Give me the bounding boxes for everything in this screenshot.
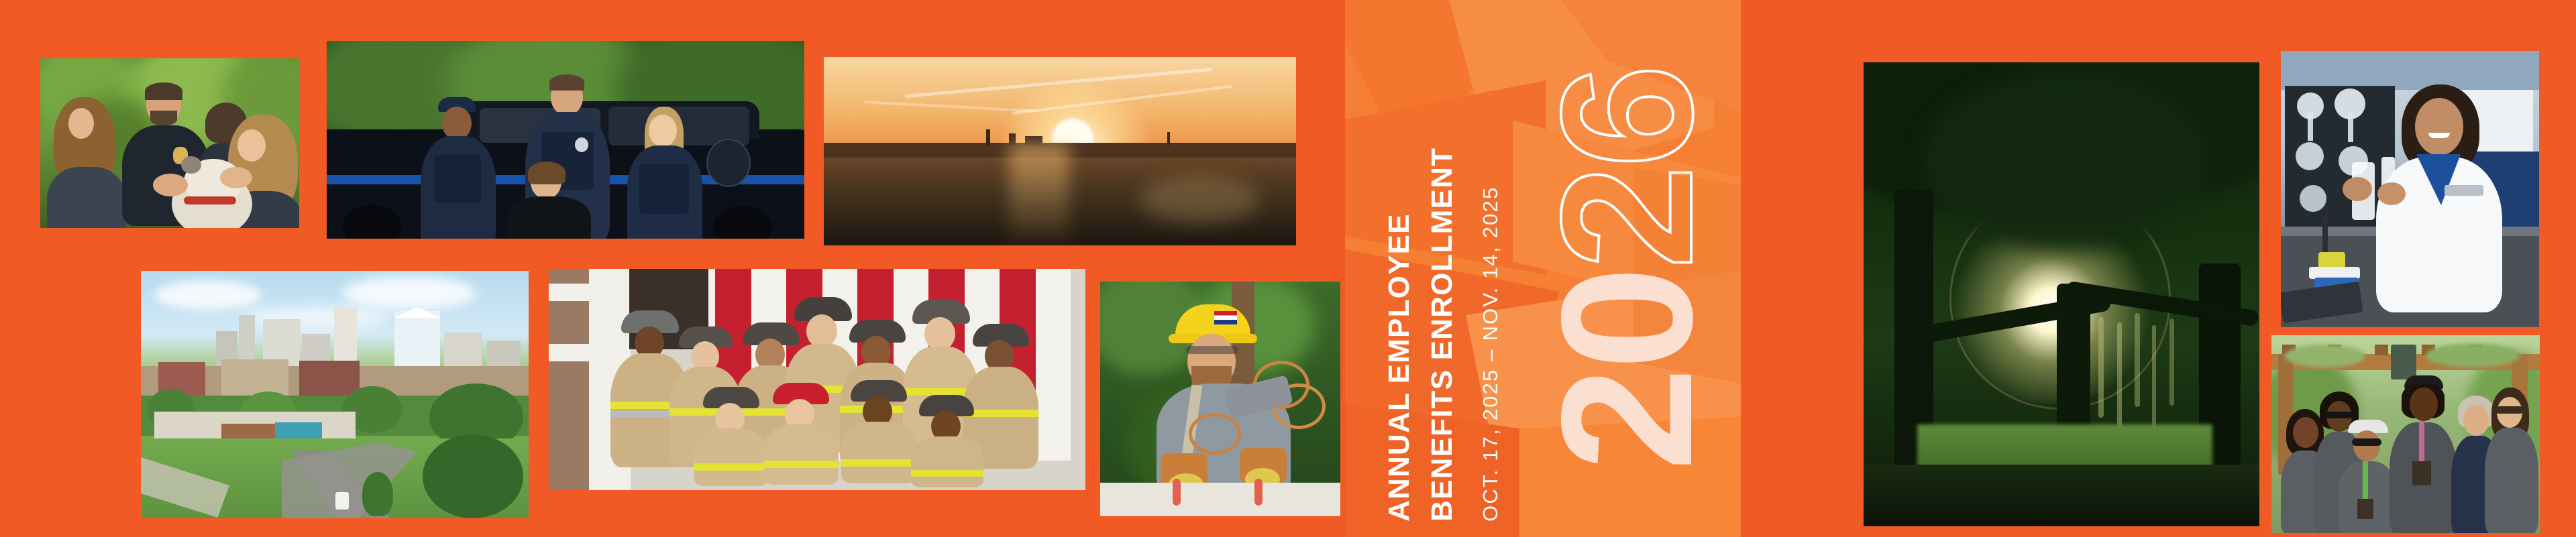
cloud: [342, 276, 476, 310]
dog-collar: [184, 196, 236, 204]
colorful-building: [275, 422, 322, 438]
photo-scene: [327, 41, 804, 239]
sunglasses: [2495, 406, 2524, 414]
photo-scene: [1864, 62, 2259, 526]
hand: [220, 167, 252, 188]
year-solid-part: 20: [1534, 269, 1720, 471]
spanish-moss: [2117, 322, 2122, 436]
head: [2415, 98, 2463, 156]
spanish-moss: [2135, 313, 2140, 407]
enrollment-date-range: OCT. 17, 2025 – NOV. 14, 2025: [1480, 186, 1501, 522]
spanish-moss: [2169, 318, 2174, 406]
photo-scene: [40, 58, 299, 228]
photo-scene: [141, 271, 529, 518]
coat-embroidery: [2445, 185, 2483, 196]
person-silhouette: [506, 164, 591, 239]
skyline-tower: [986, 129, 990, 145]
hair: [549, 74, 584, 91]
photo-community-staff-group-garden: Smiling group of city staff and voluntee…: [2271, 335, 2540, 533]
ground-light: [1139, 176, 1260, 223]
head: [924, 317, 955, 351]
face: [649, 115, 677, 147]
vest: [434, 155, 481, 203]
hand: [2343, 177, 2372, 201]
face: [237, 129, 266, 162]
reflective-stripe: [911, 470, 983, 477]
hook: [1254, 479, 1263, 505]
badge: [2357, 499, 2373, 519]
photo-scene: [549, 269, 1085, 490]
pergola-post: [2375, 345, 2388, 355]
greenery-garland: [2285, 345, 2365, 367]
person-silhouette: [911, 395, 983, 481]
reflective-stripe: [694, 463, 769, 471]
head: [2410, 387, 2438, 421]
year-2026-graphic: 20 26: [1509, 0, 1744, 537]
face: [68, 108, 94, 139]
shadowed-ground: [1864, 465, 2259, 526]
turnout-coat: [911, 436, 983, 487]
person-silhouette: [421, 97, 496, 239]
photo-scene: [2271, 335, 2540, 533]
police-door-seal: [706, 139, 751, 187]
photo-downtown-skyline-cascades-park: Aerial view of downtown skyline and Casc…: [141, 271, 529, 518]
turnout-coat: [694, 428, 769, 486]
head: [2353, 430, 2380, 461]
reflective-stripe: [763, 461, 839, 468]
vest: [639, 164, 689, 214]
photo-animal-control-officers-with-dog: Animal control officers petting a dog ou…: [40, 58, 299, 228]
skyline-tower: [1167, 132, 1170, 145]
title-line-1: ANNUAL EMPLOYEE: [1385, 213, 1414, 522]
person-silhouette: [47, 100, 127, 228]
flag-decal: [1214, 311, 1237, 324]
lanyard: [2419, 421, 2424, 464]
hair: [528, 162, 566, 184]
reflective-stripe: [841, 459, 916, 467]
station-signage: [549, 284, 589, 301]
tree: [362, 472, 393, 516]
sun-ray: [1009, 143, 1069, 245]
hook: [1173, 479, 1181, 505]
greenery-garland: [2426, 343, 2520, 367]
photo-police-officers-with-cruiser: Four City of Tallahassee police officers…: [327, 41, 804, 239]
title-line-2: BENEFITS ENROLLMENT: [1428, 147, 1457, 522]
vehicle: [335, 492, 349, 510]
spanish-moss: [2098, 317, 2104, 418]
torso: [506, 196, 591, 239]
person-silhouette: [763, 383, 839, 481]
person-silhouette: [2390, 375, 2457, 533]
eyeglasses: [2325, 412, 2353, 418]
bucket-rim: [1100, 483, 1340, 516]
photo-lab-scientist-with-glassware: Water-quality lab scientist in white coa…: [2281, 51, 2539, 327]
photo-firefighters-with-flag: Firefighter crew posed in front of an Am…: [549, 269, 1085, 490]
torso: [47, 167, 126, 228]
photo-scene: [1100, 282, 1340, 516]
station-signage: [549, 344, 589, 361]
hand: [2377, 182, 2406, 205]
turnout-coat: [763, 424, 839, 485]
beard: [150, 111, 177, 125]
photo-scene: [824, 57, 1296, 245]
photo-sunset-over-city-treeline: Sunset over forested city skyline: [824, 57, 1296, 245]
glassware-stem: [2348, 113, 2353, 142]
photo-lineworker-on-utility-pole: Electric utility lineworker in yellow ha…: [1100, 282, 1340, 516]
cloud: [154, 280, 262, 310]
gray-tshirt: [2485, 428, 2538, 533]
tree-canopy: [1924, 76, 2206, 250]
hair: [145, 82, 182, 100]
safety-glasses: [1186, 346, 1238, 354]
glassware-flask: [2296, 142, 2324, 170]
spanish-moss: [2152, 325, 2156, 432]
sunglasses: [2352, 438, 2381, 446]
person-silhouette: [841, 380, 916, 481]
lanyard: [2363, 461, 2368, 500]
brick-wall: [549, 269, 594, 490]
dog-ear: [181, 156, 201, 174]
benefits-enrollment-banner: Animal control officers petting a dog ou…: [0, 0, 2576, 537]
badge: [2412, 461, 2431, 485]
person-silhouette: [2339, 420, 2396, 533]
glassware-flask: [2300, 185, 2326, 212]
turnout-coat: [841, 422, 916, 483]
photo-live-oaks-with-spanish-moss: Sunlight through live oak canopy draped …: [1864, 62, 2259, 526]
hanging-sign: [2391, 345, 2416, 379]
person-silhouette: [2485, 387, 2538, 533]
headline-block: ANNUAL EMPLOYEE BENEFITS ENROLLMENT OCT.…: [1350, 0, 1524, 537]
glassware-stem: [2308, 113, 2313, 141]
hand: [153, 174, 188, 196]
head: [442, 107, 472, 140]
person-silhouette: [627, 107, 702, 239]
person-silhouette: [694, 387, 769, 481]
building-glass-tower: [394, 311, 440, 374]
copper-wire-coil: [1189, 413, 1241, 455]
tree: [423, 434, 523, 518]
head: [806, 314, 837, 348]
photo-scene: [2281, 51, 2539, 327]
year-outline-part: 26: [1534, 66, 1720, 268]
smile: [2428, 133, 2450, 138]
badge: [575, 137, 588, 152]
